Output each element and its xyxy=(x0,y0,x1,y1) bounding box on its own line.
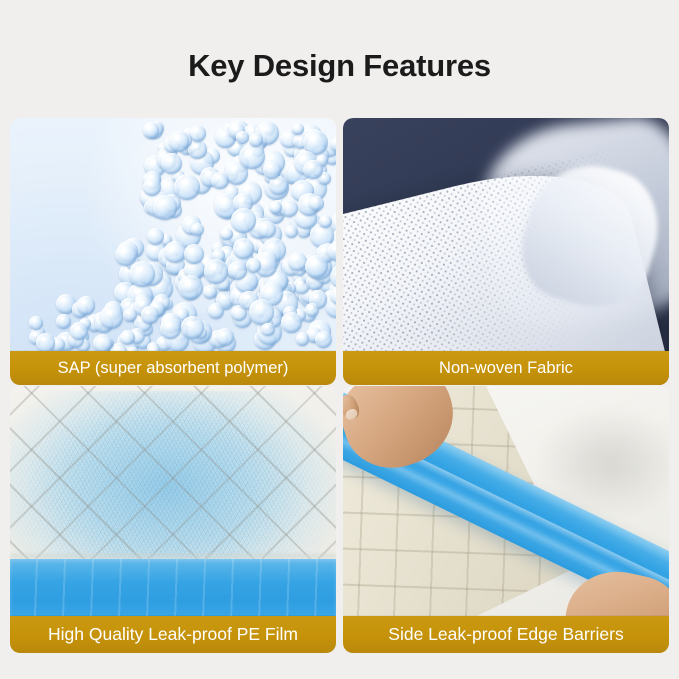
sap-bead xyxy=(305,255,328,278)
page-title: Key Design Features xyxy=(0,48,679,84)
sap-bead xyxy=(178,275,203,300)
sap-bead xyxy=(239,144,265,170)
sap-bead xyxy=(153,195,178,220)
sap-bead xyxy=(220,228,233,241)
sap-bead xyxy=(143,178,161,196)
sap-bead xyxy=(292,123,304,135)
feature-card-edge-barriers[interactable]: Side Leak-proof Edge Barriers xyxy=(343,386,669,653)
sap-bead xyxy=(228,261,247,280)
sap-bead xyxy=(141,306,158,323)
sap-bead xyxy=(204,259,229,284)
feature-card-pe-film[interactable]: High Quality Leak-proof PE Film xyxy=(10,386,336,653)
caption-sap: SAP (super absorbent polymer) xyxy=(10,351,336,385)
edge-barriers-photo xyxy=(343,386,669,653)
sap-bead xyxy=(233,238,254,259)
sap-bead xyxy=(309,196,324,211)
sap-bead xyxy=(36,333,55,352)
caption-edge-barriers: Side Leak-proof Edge Barriers xyxy=(343,616,669,653)
sap-bead xyxy=(269,201,282,214)
sap-bead-cluster xyxy=(10,118,336,385)
sap-bead xyxy=(281,312,302,333)
pe-film-strip xyxy=(10,559,336,619)
sap-bead xyxy=(184,244,204,264)
sap-bead xyxy=(56,314,71,329)
sap-bead xyxy=(263,161,281,179)
sap-bead xyxy=(315,331,332,348)
sap-bead xyxy=(303,160,322,179)
sap-bead xyxy=(285,225,298,238)
sap-bead xyxy=(164,241,186,263)
sap-bead xyxy=(269,176,288,195)
sap-bead xyxy=(305,303,319,317)
sap-bead xyxy=(169,131,190,152)
sap-bead xyxy=(29,316,43,330)
sap-bead xyxy=(236,131,249,144)
sap-bead xyxy=(280,200,298,218)
sap-photo xyxy=(10,118,336,385)
sap-bead xyxy=(100,305,124,329)
feature-card-non-woven-fabric[interactable]: Non-woven Fabric xyxy=(343,118,669,385)
sap-bead xyxy=(191,223,204,236)
sap-bead xyxy=(174,174,200,200)
sap-bead xyxy=(208,303,224,319)
sap-bead xyxy=(296,332,309,345)
sap-bead xyxy=(77,296,96,315)
sap-bead xyxy=(211,172,228,189)
sap-bead xyxy=(231,208,256,233)
sap-bead xyxy=(258,221,276,239)
non-woven-fabric-photo xyxy=(343,118,669,385)
caption-pe-film: High Quality Leak-proof PE Film xyxy=(10,616,336,653)
sap-bead xyxy=(143,122,160,139)
product-feature-infographic: Key Design Features SAP (super absorbent… xyxy=(0,0,679,679)
sap-bead xyxy=(129,261,155,287)
sap-bead xyxy=(181,316,204,339)
feature-card-sap[interactable]: SAP (super absorbent polymer) xyxy=(10,118,336,385)
sap-bead xyxy=(147,228,164,245)
caption-non-woven-fabric: Non-woven Fabric xyxy=(343,351,669,385)
sap-bead xyxy=(249,299,274,324)
feature-grid: SAP (super absorbent polymer) Non-woven … xyxy=(10,118,669,653)
pe-film-photo xyxy=(10,386,336,653)
sap-bead xyxy=(123,308,137,322)
